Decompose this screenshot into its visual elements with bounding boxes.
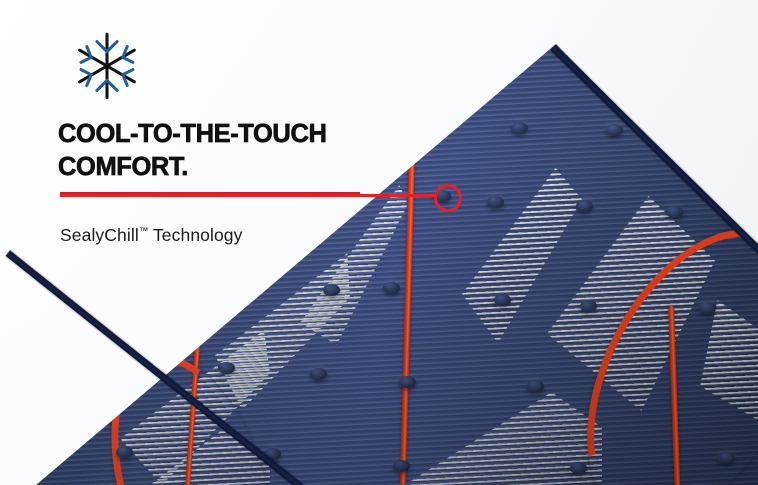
headline-line-2: COMFORT. bbox=[58, 151, 388, 184]
tuft-button bbox=[218, 362, 235, 374]
marketing-hero-image: COOL-TO-THE-TOUCH COMFORT. SealyChill™ T… bbox=[0, 0, 758, 485]
tuft-button bbox=[116, 446, 133, 458]
tuft-button bbox=[399, 376, 416, 388]
tuft-button bbox=[511, 122, 528, 134]
tuft-button bbox=[487, 196, 504, 208]
tuft-button bbox=[527, 380, 544, 392]
tuft-button bbox=[606, 124, 623, 136]
technology-label: SealyChill™ Technology bbox=[60, 225, 243, 246]
technology-suffix: Technology bbox=[148, 225, 242, 245]
tuft-button bbox=[576, 200, 593, 212]
tuft-button bbox=[570, 462, 587, 474]
tuft-button bbox=[580, 300, 597, 312]
tuft-button bbox=[323, 284, 340, 296]
headline-line-1: COOL-TO-THE-TOUCH bbox=[58, 118, 388, 151]
page-title: COOL-TO-THE-TOUCH COMFORT. bbox=[58, 118, 388, 183]
technology-name: SealyChill bbox=[60, 225, 139, 245]
tuft-button bbox=[699, 302, 716, 314]
snowflake-icon bbox=[71, 30, 143, 102]
tuft-button bbox=[393, 460, 410, 472]
tuft-button bbox=[383, 282, 400, 294]
tuft-button bbox=[494, 294, 511, 306]
tuft-button bbox=[666, 206, 683, 218]
callout-target-circle bbox=[434, 184, 462, 212]
callout-leader-line bbox=[60, 194, 435, 197]
tuft-button bbox=[310, 368, 327, 380]
tuft-button bbox=[718, 452, 735, 464]
trademark-symbol: ™ bbox=[139, 226, 149, 237]
